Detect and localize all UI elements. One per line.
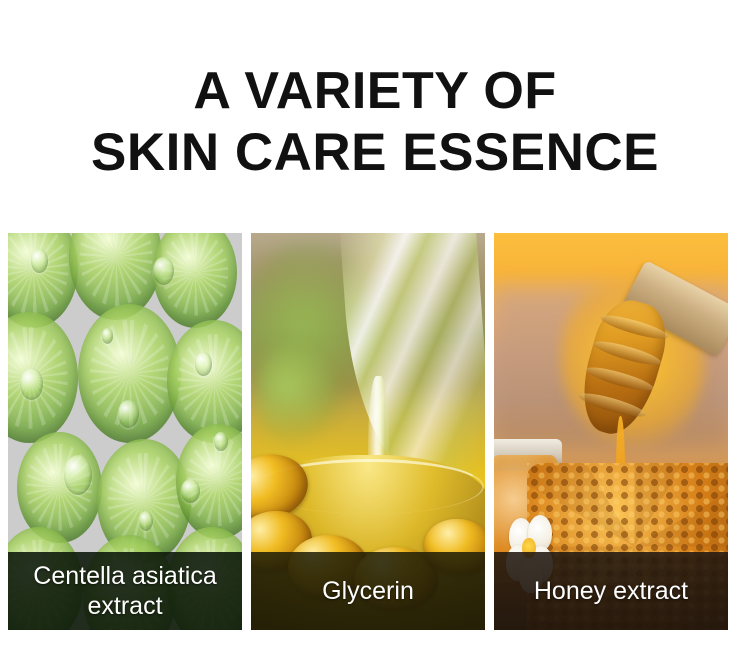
- page-title: A VARIETY OF SKIN CARE ESSENCE: [0, 60, 750, 184]
- ingredient-panel-strip: Centella asiatica extract Glycerin: [8, 233, 728, 630]
- headline-line-2: SKIN CARE ESSENCE: [0, 122, 750, 184]
- ingredient-panel-centella[interactable]: Centella asiatica extract: [8, 233, 242, 630]
- panel-caption-centella: Centella asiatica extract: [8, 552, 242, 630]
- panel-caption-glycerin: Glycerin: [251, 552, 485, 630]
- blurred-olive-fruit: [256, 344, 336, 447]
- panel-caption-honey: Honey extract: [494, 552, 728, 630]
- headline-line-1: A VARIETY OF: [0, 60, 750, 122]
- skin-care-essence-banner: A VARIETY OF SKIN CARE ESSENCE: [0, 0, 750, 646]
- ingredient-panel-honey[interactable]: Honey extract: [494, 233, 728, 630]
- ingredient-panel-glycerin[interactable]: Glycerin: [251, 233, 485, 630]
